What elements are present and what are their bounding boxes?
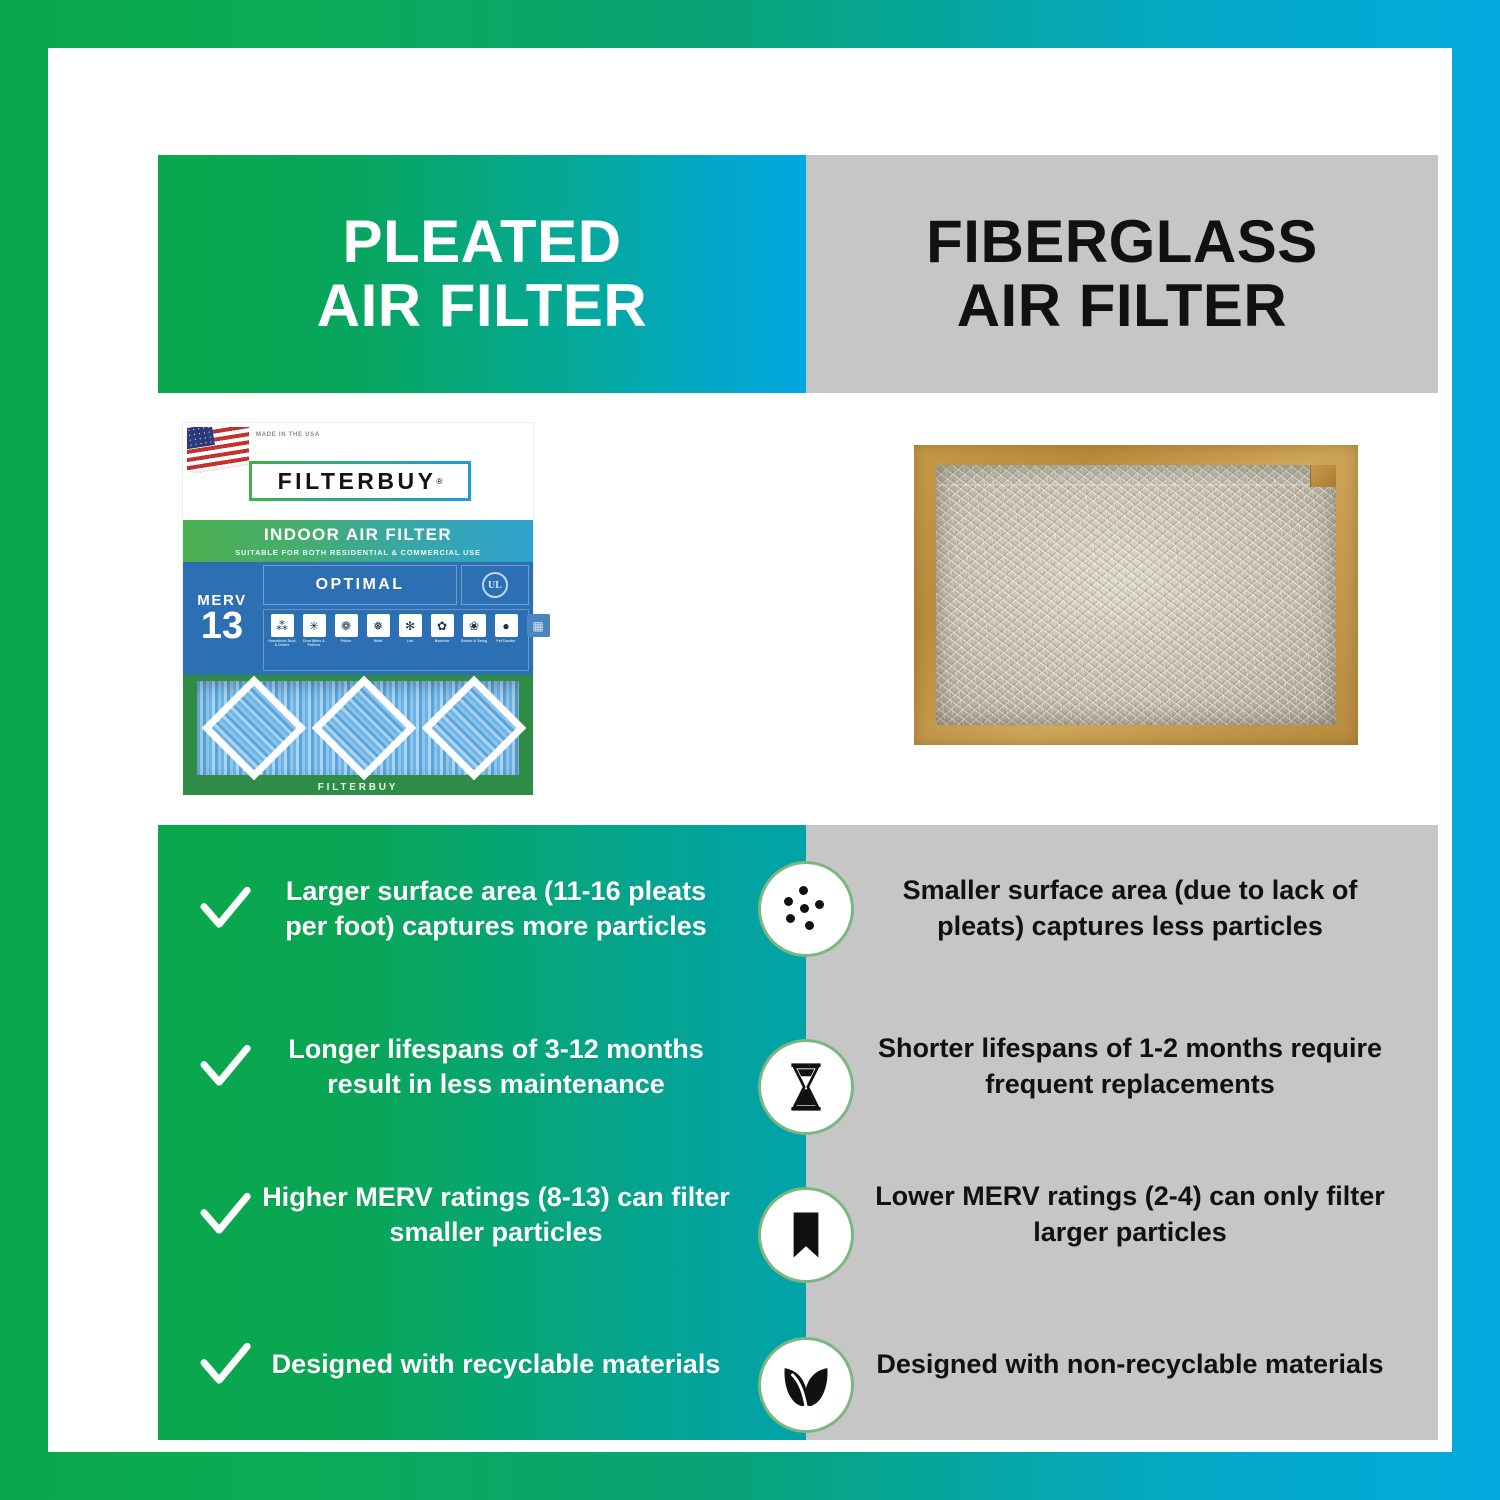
bookmark-icon [758, 1187, 854, 1283]
mold-label: Mold [363, 639, 393, 643]
filterbuy-logo: FILTERBUY® [249, 461, 471, 501]
header-pleated-title: PLEATED AIR FILTER [317, 210, 648, 338]
indoor-air-filter-band: INDOOR AIR FILTER SUITABLE FOR BOTH RESI… [183, 520, 533, 562]
pleated-media [197, 681, 519, 775]
tier-cell: OPTIMAL [263, 565, 457, 605]
check-icon [188, 1187, 262, 1243]
header-fiberglass-line1: FIBERGLASS [926, 210, 1318, 274]
household-dust-label: Household Dust & Debris [267, 639, 297, 648]
row-fiberglass-text: Shorter lifespans of 1-2 months require … [862, 1031, 1398, 1103]
merv-rating-cell: MERV 13 [183, 562, 261, 675]
header-fiberglass-title: FIBERGLASS AIR FILTER [926, 210, 1318, 338]
capture-icon-lint: ✻ Lint [395, 614, 425, 643]
support-diamond [422, 676, 527, 781]
check-icon [188, 881, 262, 937]
row-pleated-text: Longer lifespans of 3-12 months result i… [262, 1032, 792, 1102]
row-pleated-text: Designed with recyclable materials [262, 1347, 792, 1382]
pollen-icon: ❁ [335, 614, 358, 637]
capture-icon-smoke: ❀ Smoke & Smog [459, 614, 489, 643]
filter-label-face: MADE IN THE USA FILTERBUY® INDOOR AIR FI… [183, 423, 533, 675]
row-fiberglass-cell: Shorter lifespans of 1-2 months require … [806, 993, 1438, 1141]
header-fiberglass: FIBERGLASS AIR FILTER [806, 155, 1438, 393]
pleated-media-frame: FILTERBUY [183, 675, 533, 795]
fiberglass-filter-image [914, 445, 1358, 745]
bacteria-icon: ✿ [431, 614, 454, 637]
leaf-icon [758, 1337, 854, 1433]
row-pleated-cell: Longer lifespans of 3-12 months result i… [158, 993, 806, 1141]
capture-icon-pet-dander: ● Pet Dander [491, 614, 521, 643]
ul-badge-text: UL [482, 572, 508, 598]
header-pleated: PLEATED AIR FILTER [158, 155, 806, 393]
capture-icon-dust-mites: ✳ Dust Mites & Pollens [299, 614, 329, 648]
capture-icon-mold: ❅ Mold [363, 614, 393, 643]
bacteria-label: Bacteria [427, 639, 457, 643]
particles-icon [758, 861, 854, 957]
row-pleated-text: Higher MERV ratings (8-13) can filter sm… [262, 1180, 792, 1250]
row-fiberglass-cell: Smaller surface area (due to lack of ple… [806, 825, 1438, 993]
row-fiberglass-cell: Lower MERV ratings (2-4) can only filter… [806, 1141, 1438, 1289]
capture-icon-bacteria: ✿ Bacteria [427, 614, 457, 643]
row-pleated-cell: Designed with recyclable materials [158, 1289, 806, 1440]
header-pleated-line1: PLEATED [317, 210, 648, 274]
band-subtitle: SUITABLE FOR BOTH RESIDENTIAL & COMMERCI… [235, 548, 481, 557]
support-diamond [202, 676, 307, 781]
merv-value: 13 [201, 607, 243, 645]
row-pleated-cell: Larger surface area (11-16 pleats per fo… [158, 825, 806, 993]
household-dust-icon: ⁂ [271, 614, 294, 637]
row-pleated-cell: Higher MERV ratings (8-13) can filter sm… [158, 1141, 806, 1289]
support-diamond [312, 676, 417, 781]
hourglass-icon [758, 1039, 854, 1135]
registered-mark: ® [436, 477, 442, 486]
frame-brand-text: FILTERBUY [183, 782, 533, 793]
particles-dots [779, 882, 833, 936]
ul-certification-cell: UL [461, 565, 529, 605]
pet-dander-label: Pet Dander [491, 639, 521, 643]
comparison-table: Larger surface area (11-16 pleats per fo… [158, 825, 1438, 1440]
header-pleated-line2: AIR FILTER [317, 274, 648, 338]
frame-corner [1310, 465, 1336, 487]
row-fiberglass-text: Designed with non-recyclable materials [876, 1347, 1383, 1383]
fiberglass-media [936, 465, 1336, 725]
product-images-row: MADE IN THE USA FILTERBUY® INDOOR AIR FI… [158, 393, 1438, 825]
gradient-border-frame: PLEATED AIR FILTER FIBERGLASS AIR FILTER [0, 0, 1500, 1500]
row-fiberglass-text: Lower MERV ratings (2-4) can only filter… [862, 1179, 1398, 1251]
filterbuy-logo-text: FILTERBUY [278, 468, 437, 495]
band-title: INDOOR AIR FILTER [264, 525, 452, 545]
pollen-label: Pollen [331, 639, 361, 643]
capture-icon-extra: ▦ [523, 614, 553, 639]
dust-mites-label: Dust Mites & Pollens [299, 639, 329, 648]
dust-mites-icon: ✳ [303, 614, 326, 637]
mold-icon: ❅ [367, 614, 390, 637]
header-fiberglass-line2: AIR FILTER [926, 274, 1318, 338]
check-icon [188, 1039, 262, 1095]
header-row: PLEATED AIR FILTER FIBERGLASS AIR FILTER [158, 155, 1438, 393]
smoke-icon: ❀ [463, 614, 486, 637]
lint-icon: ✻ [399, 614, 422, 637]
pleated-filter-image: MADE IN THE USA FILTERBUY® INDOOR AIR FI… [183, 423, 533, 795]
row-pleated-text: Larger surface area (11-16 pleats per fo… [262, 874, 792, 944]
capture-icons-strip: ⁂ Household Dust & Debris ✳ Dust Mites &… [263, 609, 529, 671]
row-fiberglass-cell: Designed with non-recyclable materials [806, 1289, 1438, 1440]
made-in-usa-text: MADE IN THE USA [256, 431, 320, 440]
row-fiberglass-text: Smaller surface area (due to lack of ple… [862, 873, 1398, 945]
white-matte: PLEATED AIR FILTER FIBERGLASS AIR FILTER [48, 48, 1452, 1452]
lint-label: Lint [395, 639, 425, 643]
check-icon [188, 1337, 262, 1393]
capture-icon-pollen: ❁ Pollen [331, 614, 361, 643]
capture-icon-household-dust: ⁂ Household Dust & Debris [267, 614, 297, 648]
comparison-infographic: PLEATED AIR FILTER FIBERGLASS AIR FILTER [158, 155, 1438, 1440]
pet-dander-icon: ● [495, 614, 518, 637]
merv-info-band: MERV 13 OPTIMAL UL [183, 562, 533, 675]
usa-flag-icon [187, 427, 249, 473]
smoke-label: Smoke & Smog [459, 639, 489, 643]
ul-badge-icon: UL [482, 572, 508, 598]
tier-label: OPTIMAL [316, 576, 405, 594]
extra-filter-icon: ▦ [527, 614, 550, 637]
frame-seam [936, 484, 1336, 486]
